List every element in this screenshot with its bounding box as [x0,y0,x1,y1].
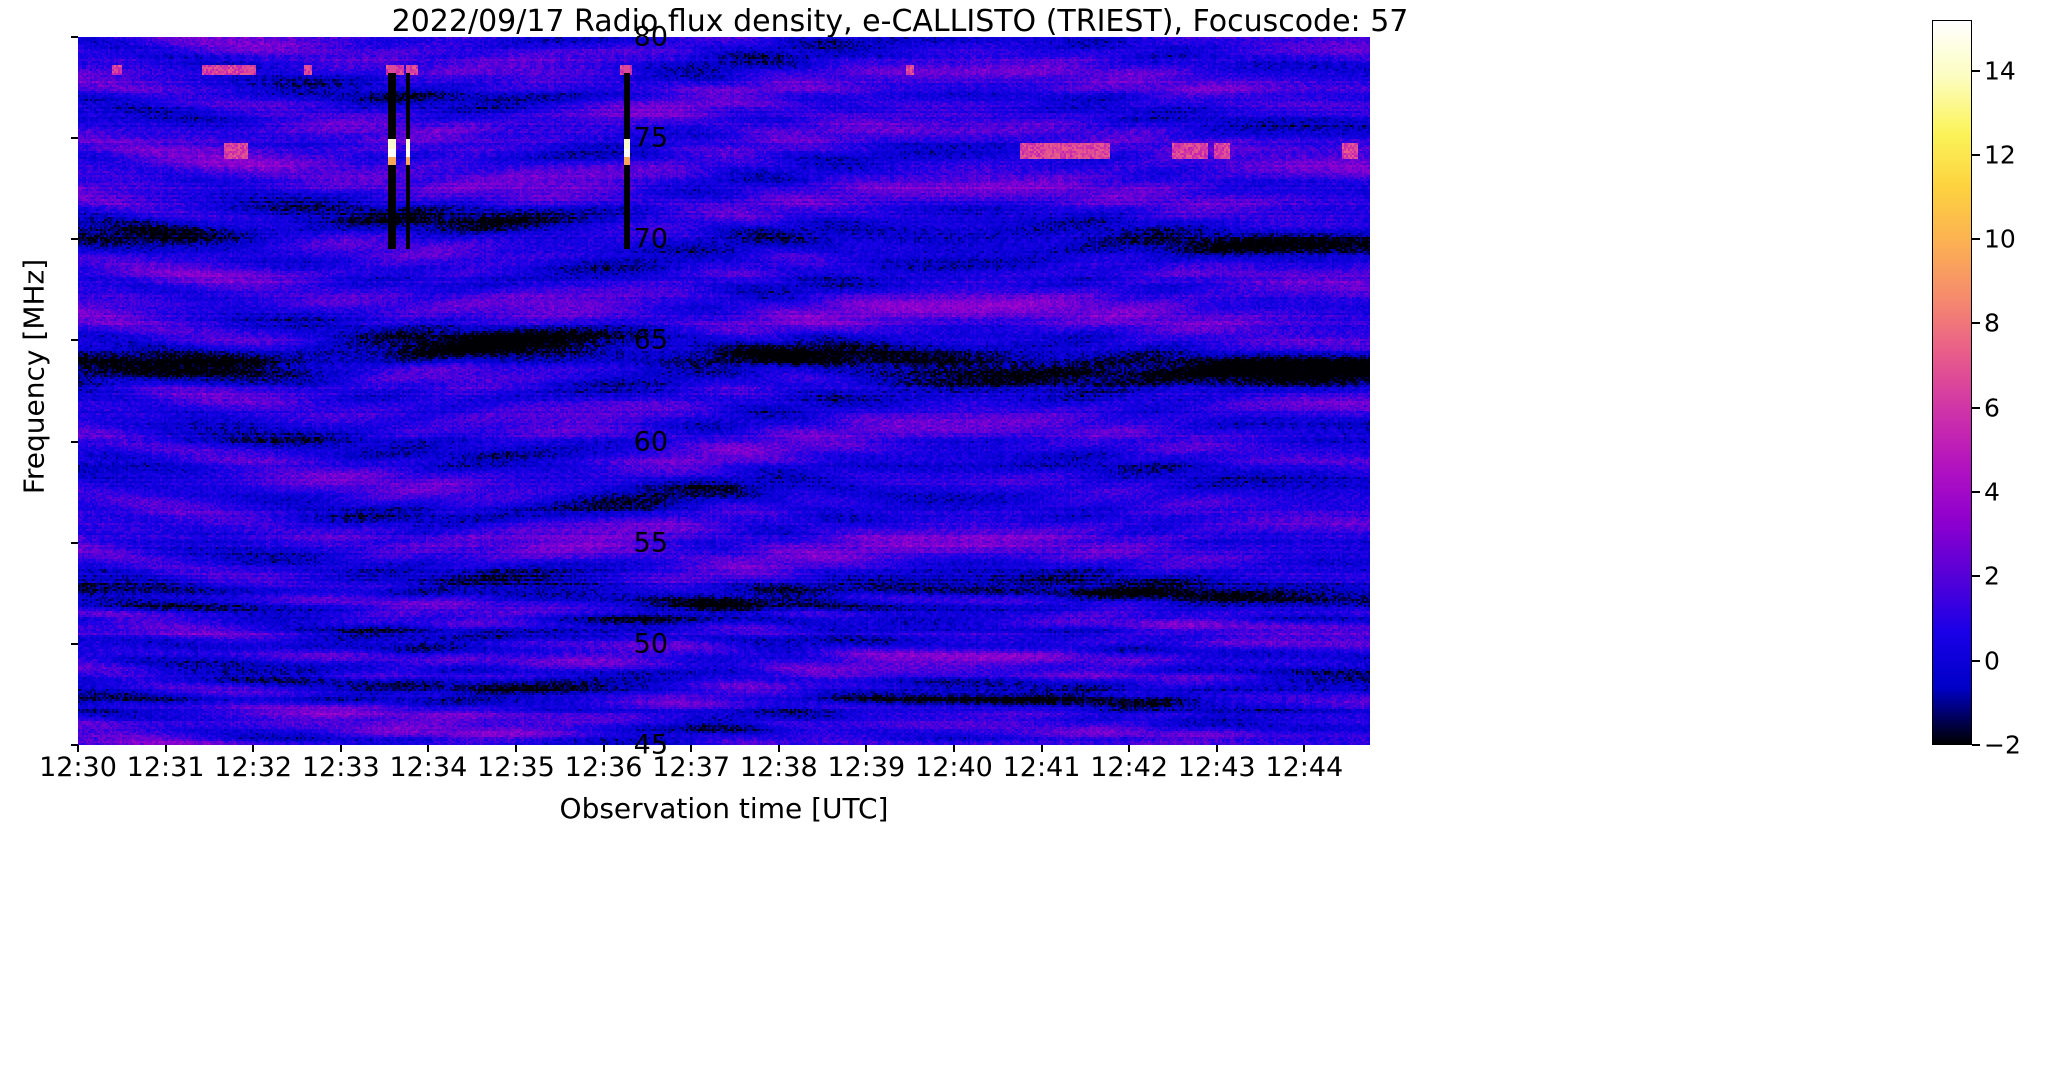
colorbar-tick-label: 4 [1984,478,2000,507]
x-tick-mark [690,745,692,752]
y-tick-mark [71,36,78,38]
x-tick-label: 12:36 [565,752,643,783]
x-tick-mark [1303,745,1305,752]
y-tick-label: 55 [634,527,668,558]
colorbar-tick-mark [1972,744,1980,746]
colorbar-tick-mark [1972,407,1980,409]
y-axis-label: Frequency [MHz] [18,67,51,687]
colorbar-tick-label: 12 [1984,140,2016,169]
colorbar-tick-label: 14 [1984,56,2016,85]
x-tick-label: 12:39 [827,752,905,783]
x-tick-mark [865,745,867,752]
y-tick-mark [71,542,78,544]
colorbar-tick-mark [1972,154,1980,156]
x-tick-label: 12:40 [915,752,993,783]
x-tick-label: 12:43 [1178,752,1256,783]
y-tick-label: 80 [634,22,668,53]
y-tick-mark [71,137,78,139]
y-tick-mark [71,339,78,341]
y-tick-mark [71,441,78,443]
x-tick-mark [165,745,167,752]
colorbar[interactable] [1932,20,1972,745]
colorbar-tick-label: 8 [1984,309,2000,338]
x-tick-label: 12:42 [1090,752,1168,783]
colorbar-tick-label: −2 [1984,731,2021,760]
plot-area[interactable] [78,37,1370,745]
colorbar-tick-mark [1972,660,1980,662]
x-tick-mark [953,745,955,752]
x-tick-label: 12:38 [740,752,818,783]
colorbar-tick-mark [1972,70,1980,72]
x-tick-label: 12:44 [1265,752,1343,783]
x-tick-label: 12:41 [1003,752,1081,783]
colorbar-gradient [1932,20,1972,745]
x-tick-mark [1041,745,1043,752]
colorbar-tick-mark [1972,575,1980,577]
colorbar-tick-mark [1972,322,1980,324]
x-tick-mark [515,745,517,752]
colorbar-tick-label: 0 [1984,646,2000,675]
x-tick-mark [1216,745,1218,752]
x-tick-mark [778,745,780,752]
y-tick-mark [71,238,78,240]
x-axis-label: Observation time [UTC] [78,792,1370,825]
x-tick-label: 12:37 [652,752,730,783]
y-tick-label: 75 [634,123,668,154]
x-tick-mark [1128,745,1130,752]
x-tick-label: 12:33 [302,752,380,783]
x-tick-mark [252,745,254,752]
figure-title: 2022/09/17 Radio flux density, e-CALLIST… [0,4,1800,39]
y-tick-label: 65 [634,325,668,356]
x-tick-label: 12:35 [477,752,555,783]
y-tick-label: 70 [634,224,668,255]
spectrogram-image[interactable] [78,37,1370,745]
colorbar-tick-label: 10 [1984,225,2016,254]
x-tick-label: 12:31 [127,752,205,783]
y-tick-label: 50 [634,628,668,659]
colorbar-tick-mark [1972,491,1980,493]
spectrogram-figure: 2022/09/17 Radio flux density, e-CALLIST… [0,0,2047,1067]
x-tick-mark [603,745,605,752]
x-tick-label: 12:32 [214,752,292,783]
x-tick-label: 12:30 [39,752,117,783]
y-tick-mark [71,643,78,645]
x-tick-mark [427,745,429,752]
colorbar-tick-label: 2 [1984,562,2000,591]
x-tick-mark [340,745,342,752]
colorbar-tick-label: 6 [1984,393,2000,422]
y-tick-label: 60 [634,426,668,457]
colorbar-tick-mark [1972,238,1980,240]
x-tick-mark [77,745,79,752]
x-tick-label: 12:34 [389,752,467,783]
